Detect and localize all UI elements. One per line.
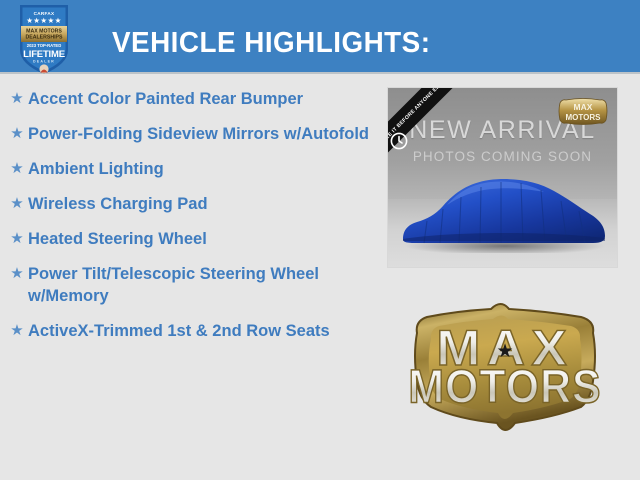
header-bar: VEHICLE HIGHLIGHTS: [0, 0, 640, 74]
star-bullet-icon: ★ [6, 320, 28, 342]
list-item-label: Heated Steering Wheel [28, 228, 207, 250]
svg-text:2023 TOP-RATED: 2023 TOP-RATED [27, 43, 62, 48]
list-item-label: Power-Folding Sideview Mirrors w/Autofol… [28, 123, 369, 145]
photo-subline: PHOTOS COMING SOON [388, 149, 617, 164]
star-bullet-icon: ★ [6, 158, 28, 180]
carfax-top-rated-dealer-badge-icon: CARFAX ★★★★★ MAX MOTORS DEALERSHIPS 2023… [18, 2, 70, 76]
list-item: ★ Power-Folding Sideview Mirrors w/Autof… [6, 123, 378, 145]
max-motors-watermark-icon: MAX MOTORS [557, 97, 609, 126]
list-item: ★ Accent Color Painted Rear Bumper [6, 88, 378, 110]
svg-text:★★★★★: ★★★★★ [26, 16, 62, 25]
covered-car-illustration [397, 151, 610, 253]
list-item: ★ ActiveX-Trimmed 1st & 2nd Row Seats [6, 320, 378, 342]
vehicle-highlights-slide: VEHICLE HIGHLIGHTS: CARFAX ★★★★★ MAX MOT… [0, 0, 640, 480]
star-bullet-icon: ★ [6, 193, 28, 215]
max-motors-logo: MAX ★ MOTORS [405, 295, 605, 447]
list-item-label: Wireless Charging Pad [28, 193, 208, 215]
list-item: ★ Heated Steering Wheel [6, 228, 378, 250]
star-bullet-icon: ★ [6, 228, 28, 250]
list-item-label: Accent Color Painted Rear Bumper [28, 88, 303, 110]
clock-icon [390, 132, 408, 150]
list-item-label: ActiveX-Trimmed 1st & 2nd Row Seats [28, 320, 330, 342]
list-item-label: Power Tilt/Telescopic Steering Wheel w/M… [28, 263, 373, 307]
svg-text:DEALERSHIPS: DEALERSHIPS [26, 35, 63, 41]
star-bullet-icon: ★ [6, 263, 28, 285]
vehicle-photo-placeholder[interactable]: NEW ARRIVAL PHOTOS COMING SOON SEE IT BE… [387, 87, 618, 268]
star-bullet-icon: ★ [6, 123, 28, 145]
svg-text:DEALER: DEALER [33, 60, 55, 64]
star-bullet-icon: ★ [6, 88, 28, 110]
svg-text:MAX: MAX [574, 102, 593, 112]
list-item: ★ Power Tilt/Telescopic Steering Wheel w… [6, 263, 378, 307]
svg-text:LIFETIME: LIFETIME [23, 49, 65, 60]
list-item: ★ Wireless Charging Pad [6, 193, 378, 215]
page-title: VEHICLE HIGHLIGHTS: [112, 27, 430, 60]
svg-text:MOTORS: MOTORS [566, 113, 602, 122]
list-item: ★ Ambient Lighting [6, 158, 378, 180]
vehicle-highlights-list: ★ Accent Color Painted Rear Bumper ★ Pow… [6, 88, 378, 355]
list-item-label: Ambient Lighting [28, 158, 164, 180]
svg-text:MOTORS: MOTORS [408, 360, 601, 413]
